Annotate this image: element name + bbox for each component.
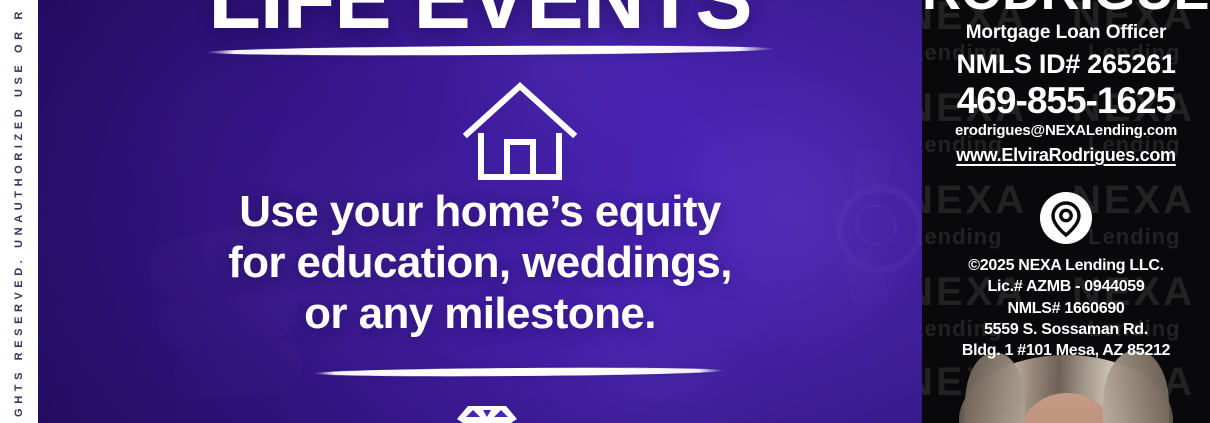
- page-title: LIFE EVENTS: [38, 0, 922, 42]
- brush-underline-bottom-icon: [314, 367, 724, 378]
- agent-website-link[interactable]: www.ElviraRodrigues.com: [922, 145, 1210, 166]
- subhead-line-3: or any milestone.: [68, 288, 892, 339]
- legal-line-2: Lic.# AZMB - 0944059: [922, 276, 1210, 297]
- diamond-gem-icon: [456, 400, 518, 423]
- agent-name: RODRIGUES: [922, 0, 1210, 18]
- house-outline-icon: [461, 78, 579, 182]
- promo-panel: LIFE EVENTS Use your home’s equity for e…: [38, 0, 922, 423]
- copyright-watermark-text: GHTS RESERVED. UNAUTHORIZED USE OR R: [13, 7, 25, 417]
- agent-job-title: Mortgage Loan Officer: [922, 22, 1210, 44]
- promotional-flyer: GHTS RESERVED. UNAUTHORIZED USE OR R LIF…: [0, 0, 1210, 423]
- subhead-line-1: Use your home’s equity: [68, 186, 892, 237]
- agent-email-address[interactable]: erodrigues@NEXALending.com: [922, 122, 1210, 139]
- legal-disclosure-block: ©2025 NEXA Lending LLC. Lic.# AZMB - 094…: [922, 255, 1210, 361]
- promo-subheadline: Use your home’s equity for education, we…: [68, 186, 892, 339]
- location-pin-icon: [1040, 192, 1092, 244]
- contact-panel: NEXA NEXA Lending Lending NEXA NEXA Lend…: [922, 0, 1210, 423]
- legal-line-1: ©2025 NEXA Lending LLC.: [922, 255, 1210, 276]
- location-pin-wrapper: [922, 192, 1210, 249]
- copyright-watermark-strip: GHTS RESERVED. UNAUTHORIZED USE OR R: [0, 0, 38, 423]
- legal-line-3: NMLS# 1660690: [922, 298, 1210, 319]
- subhead-line-2: for education, weddings,: [68, 237, 892, 288]
- legal-line-4: 5559 S. Sossaman Rd.: [922, 319, 1210, 340]
- agent-nmls-id: NMLS ID# 265261: [922, 49, 1210, 80]
- legal-line-5: Bldg. 1 #101 Mesa, AZ 85212: [922, 340, 1210, 361]
- agent-phone-number[interactable]: 469-855-1625: [922, 80, 1210, 122]
